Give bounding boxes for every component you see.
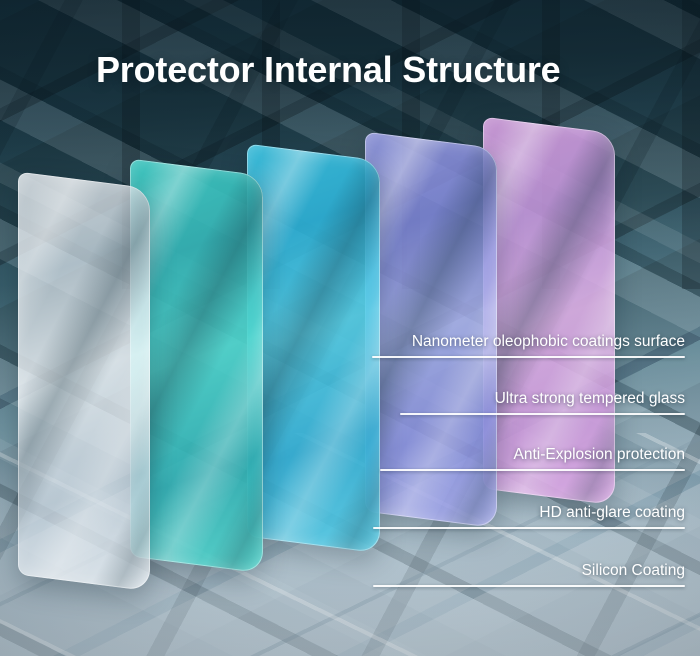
callout-nanometer-oleophobic-coatings-surface: Nanometer oleophobic coatings surface bbox=[372, 327, 685, 358]
callout-rule bbox=[372, 356, 685, 359]
callout-rule bbox=[373, 585, 685, 588]
callout-hd-anti-glare-coating: HD anti-glare coating bbox=[373, 498, 685, 529]
callout-label: Nanometer oleophobic coatings surface bbox=[412, 333, 685, 351]
callout-label: Ultra strong tempered glass bbox=[495, 390, 685, 408]
page-title: Protector Internal Structure bbox=[96, 50, 561, 90]
callout-label: HD anti-glare coating bbox=[539, 504, 685, 522]
callout-silicon-coating: Silicon Coating bbox=[373, 556, 685, 587]
callout-label: Silicon Coating bbox=[582, 562, 685, 580]
layer-1-rim bbox=[18, 172, 150, 592]
layer-3-cyan-panel bbox=[247, 144, 380, 554]
callout-rule bbox=[400, 413, 685, 416]
callout-ultra-strong-tempered-glass: Ultra strong tempered glass bbox=[400, 384, 685, 415]
layer-3-rim bbox=[247, 144, 380, 554]
callout-label: Anti-Explosion protection bbox=[514, 446, 685, 464]
callout-rule bbox=[380, 469, 685, 472]
callout-rule bbox=[373, 527, 685, 530]
infographic-canvas: Protector Internal Structure Nanometer o… bbox=[0, 0, 700, 656]
callout-anti-explosion-protection: Anti-Explosion protection bbox=[380, 440, 685, 471]
layer-1-clear-panel bbox=[18, 172, 150, 592]
